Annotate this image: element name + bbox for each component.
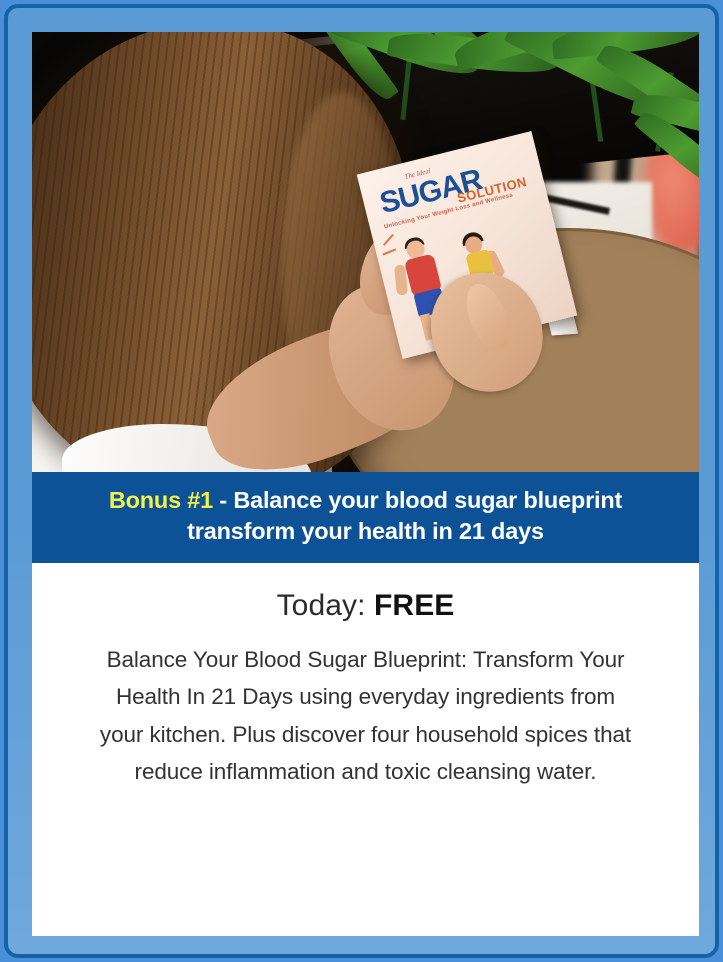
book-decor-line xyxy=(383,248,397,255)
bonus-headline-line1: Balance your blood sugar blueprint xyxy=(233,487,622,513)
bonus-product-photo: The Ideal SUGAR SOLUTION Unlocking Your … xyxy=(32,32,699,472)
price-value: FREE xyxy=(374,589,454,622)
bonus-separator: - xyxy=(213,487,233,513)
price-label: Today: xyxy=(277,589,366,622)
bonus-description: Balance Your Blood Sugar Blueprint: Tran… xyxy=(92,641,639,791)
book-decor-line xyxy=(383,234,394,246)
bonus-banner-text: Bonus #1 - Balance your blood sugar blue… xyxy=(66,485,665,548)
bonus-headline-line2: transform your health in 21 days xyxy=(187,518,544,544)
bonus-number-label: Bonus #1 xyxy=(109,487,213,513)
bonus-body: Today: FREE Balance Your Blood Sugar Blu… xyxy=(32,563,699,791)
bonus-banner: Bonus #1 - Balance your blood sugar blue… xyxy=(32,472,699,563)
price-line: Today: FREE xyxy=(92,589,639,623)
bonus-offer-card: The Ideal SUGAR SOLUTION Unlocking Your … xyxy=(32,32,699,936)
bonus-offer-frame: The Ideal SUGAR SOLUTION Unlocking Your … xyxy=(4,4,719,958)
